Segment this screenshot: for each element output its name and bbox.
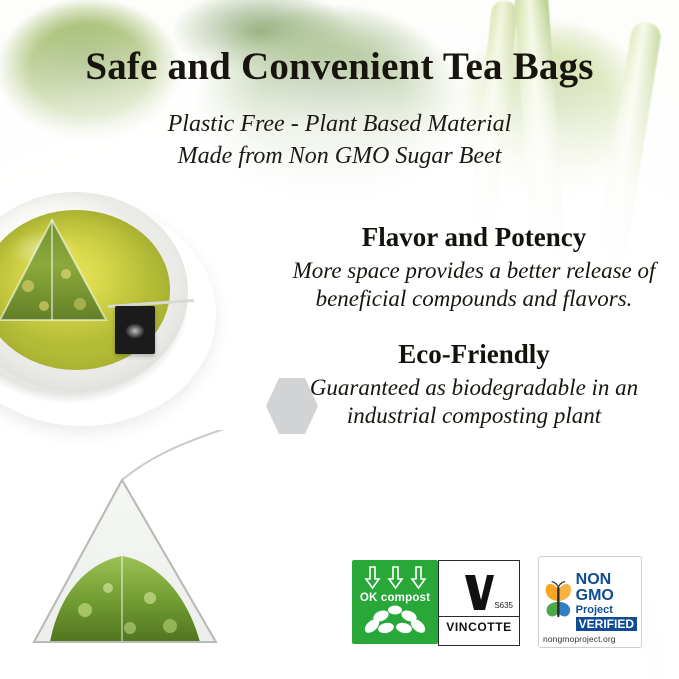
feature-list: Flavor and Potency More space provides a… [276,222,672,430]
vincotte-code: S635 [494,601,513,610]
subtitle-line-1: Plastic Free - Plant Based Material [0,109,679,140]
non-gmo-text: NON GMO Project VERIFIED [576,572,637,632]
non-gmo-line-2: GMO [576,588,637,604]
non-gmo-project-badge: NON GMO Project VERIFIED nongmoproject.o… [538,556,642,648]
pyramid-bag-diagram [30,430,290,650]
non-gmo-line-3: Project [576,605,637,616]
product-infographic: Safe and Convenient Tea Bags Plastic Fre… [0,0,679,679]
vincotte-check-icon [462,572,496,612]
vincotte-label: VINCOTTE [439,616,519,634]
tea-bag-tag [115,306,155,354]
ok-compost-label: OK compost [360,592,430,604]
vincotte-badge: S635 VINCOTTE [438,560,520,646]
feature-body-flavor: More space provides a better release of … [276,257,672,313]
certification-badges: OK compost S635 VINCOTTE [352,556,642,648]
teacup-image [0,188,240,438]
compost-arrows-icon [364,566,427,590]
subtitle: Plastic Free - Plant Based Material Made… [0,108,679,173]
non-gmo-line-1: NON [576,572,637,588]
butterfly-icon [544,576,573,628]
feature-title-eco: Eco-Friendly [276,339,672,370]
pyramid-bag-in-cup [0,216,114,334]
tag-logo-icon [121,320,149,342]
non-gmo-url: nongmoproject.org [543,634,616,644]
compost-flower-icon [356,605,434,635]
feature-body-eco: Guaranteed as biodegradable in an indust… [276,374,672,430]
non-gmo-verified-badge: VERIFIED [576,617,637,631]
large-pyramid-tea-bag [30,470,260,670]
page-title: Safe and Convenient Tea Bags [0,44,679,89]
subtitle-line-2: Made from Non GMO Sugar Beet [0,141,679,172]
feature-title-flavor: Flavor and Potency [276,222,672,253]
ok-compost-badge: OK compost [352,560,438,644]
